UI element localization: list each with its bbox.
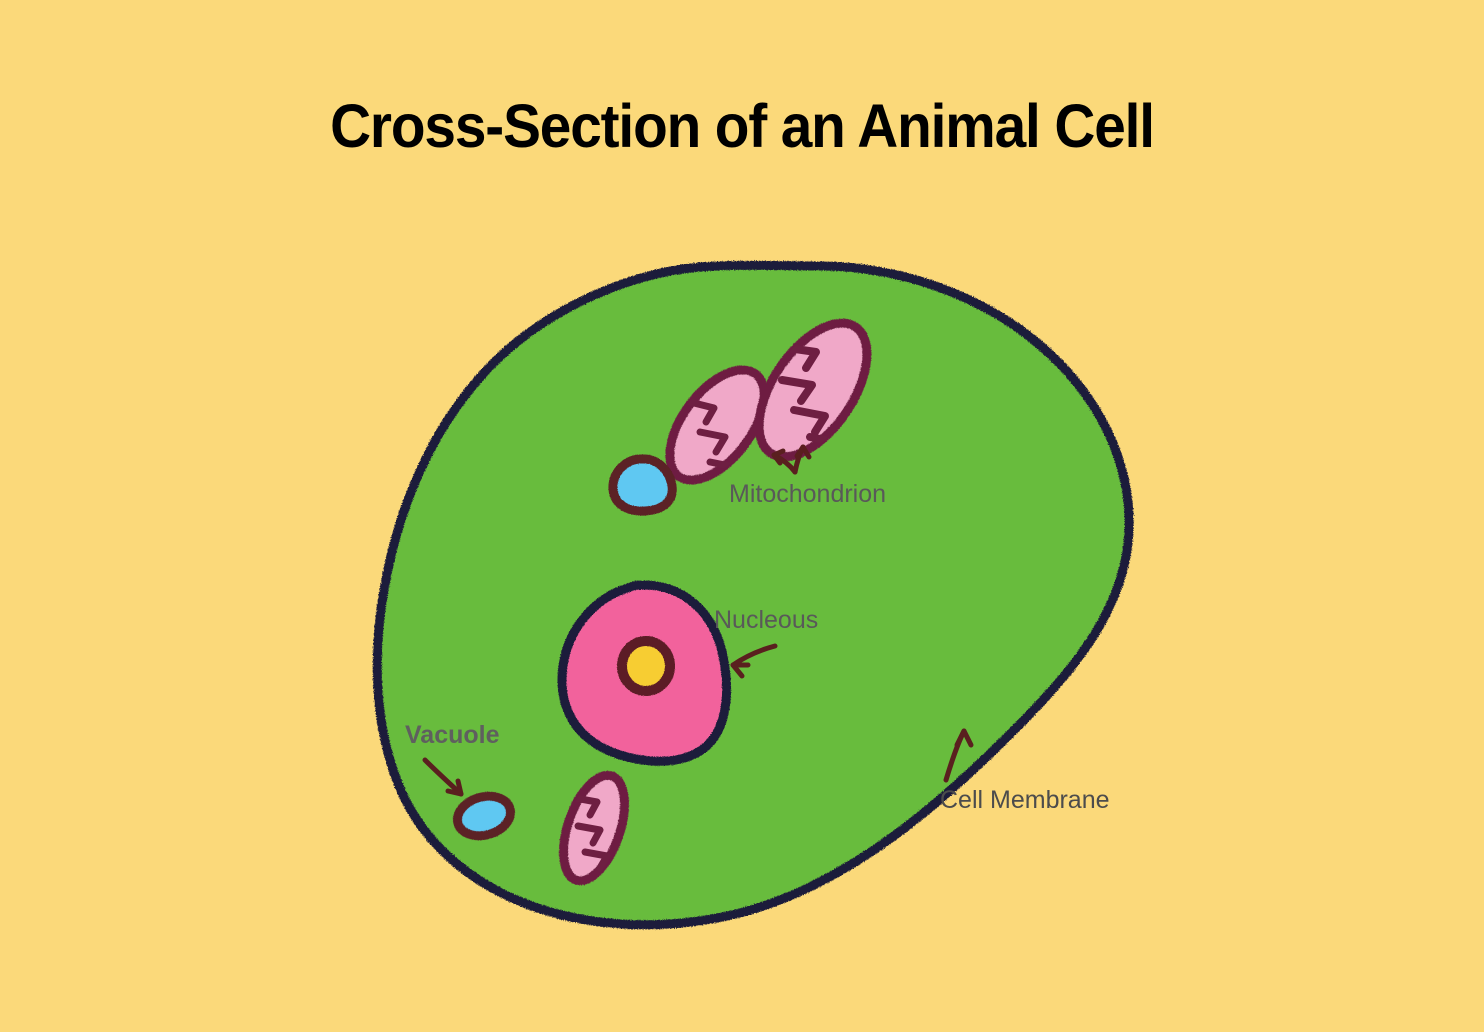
diagram-canvas: Cross-Section of an Animal Cell [0, 0, 1484, 1032]
label-vacuole: Vacuole [405, 723, 500, 748]
label-cell-membrane: Cell Membrane [940, 788, 1110, 813]
vacuole[interactable] [613, 459, 672, 511]
label-nucleous: Nucleous [714, 608, 818, 633]
nucleus[interactable] [562, 585, 727, 761]
animal-cell-illustration [0, 0, 1484, 1032]
nucleolus [622, 641, 670, 691]
label-mitochondrion: Mitochondrion [729, 482, 886, 507]
